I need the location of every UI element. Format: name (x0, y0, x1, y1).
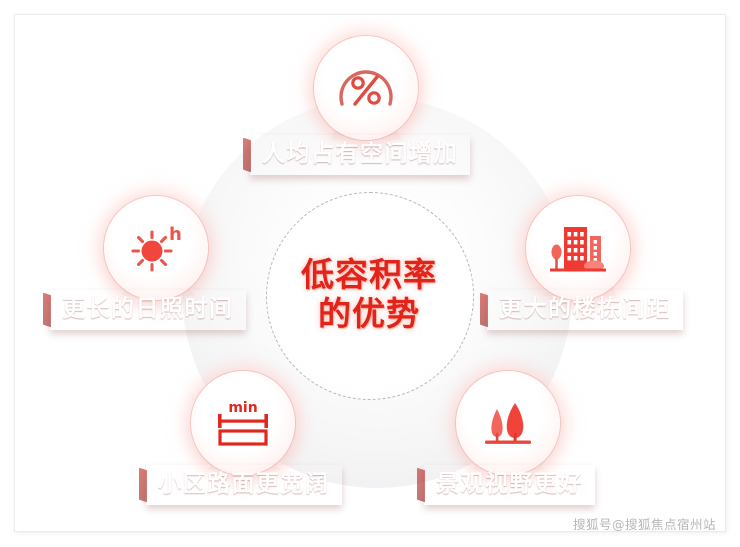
min-width-ruler-icon: min (211, 395, 275, 451)
percent-gauge-icon (335, 60, 397, 116)
node-bubble-right[interactable] (526, 196, 630, 300)
center-headline: 低容积率 的优势 (266, 192, 472, 398)
node-label-left[interactable]: 更长的日照时间 (50, 290, 246, 330)
node-bubble-bottom-right[interactable] (456, 371, 560, 475)
watermark: 搜狐号@搜狐焦点宿州站 (573, 514, 716, 533)
node-label-bottom-right[interactable]: 景观视野更好 (424, 465, 595, 505)
node-bubble-top[interactable] (314, 36, 418, 140)
center-headline-line2: 的优势 (318, 296, 420, 333)
node-bubble-left[interactable]: h (104, 196, 208, 300)
trees-landscape-icon (477, 395, 539, 451)
center-headline-line1: 低容积率 (301, 257, 437, 294)
svg-text:h: h (169, 224, 182, 245)
infographic-canvas: 低容积率 的优势 人均占有空间增加 (0, 0, 740, 547)
node-label-bottom-left[interactable]: 小区路面更宽阔 (146, 465, 342, 505)
node-label-top[interactable]: 人均占有空间增加 (250, 135, 470, 175)
buildings-spacing-icon (546, 219, 610, 277)
node-bubble-bottom-left[interactable]: min (191, 371, 295, 475)
svg-text:min: min (228, 400, 257, 416)
node-label-right[interactable]: 更大的楼栋间距 (487, 290, 683, 330)
sun-hours-icon: h (125, 219, 187, 277)
